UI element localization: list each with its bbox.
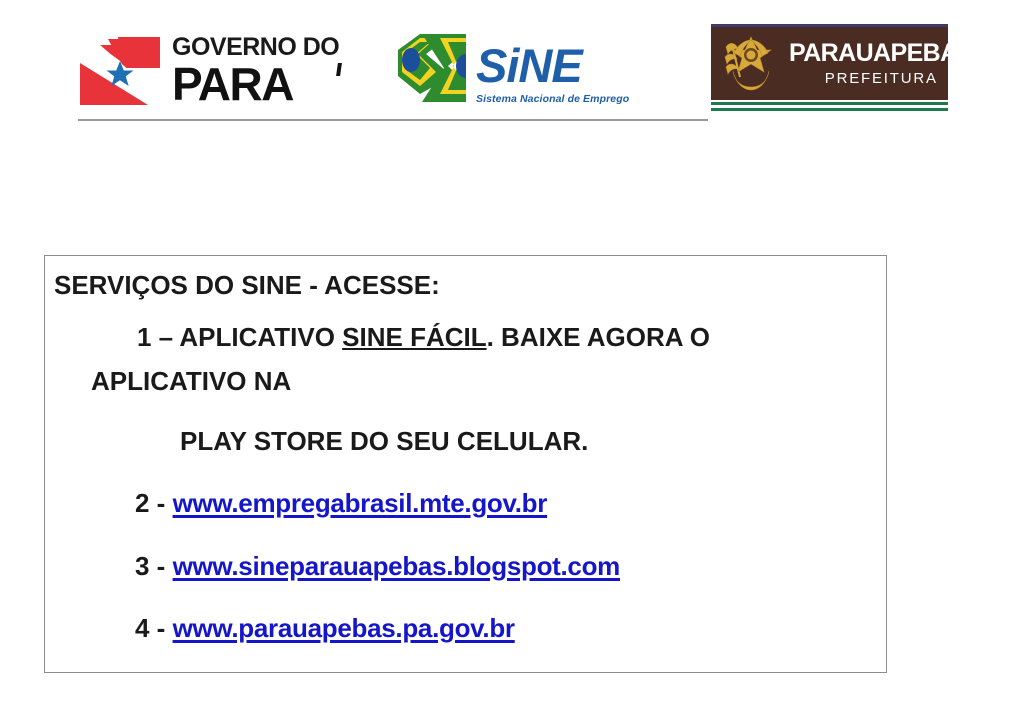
brazil-flag-chevron-icon <box>396 32 472 110</box>
parauapebas-subtitle: PREFEITURA <box>789 71 974 86</box>
parauapebas-green-rule-1 <box>711 102 948 105</box>
link-parauapebas-gov[interactable]: www.parauapebas.pa.gov.br <box>173 613 515 643</box>
parauapebas-wordmark: PARAUAPEBAS PREFEITURA <box>789 41 974 86</box>
parauapebas-name: PARAUAPEBAS <box>789 41 974 66</box>
para-line1: GOVERNO DO <box>172 35 339 60</box>
logo-parauapebas-prefeitura: PARAUAPEBAS PREFEITURA <box>711 24 948 118</box>
parauapebas-plate: PARAUAPEBAS PREFEITURA <box>711 27 948 100</box>
header-divider-line <box>78 119 708 121</box>
link-sineparauapebas-blog[interactable]: www.sineparauapebas.blogspot.com <box>173 551 620 581</box>
parauapebas-green-rule-2 <box>711 108 948 111</box>
list-item-3-number: 3 - <box>135 551 173 581</box>
list-item-4: 4 - www.parauapebas.pa.gov.br <box>135 613 515 644</box>
para-line2: PARA <box>172 61 339 107</box>
para-accent-mark <box>336 63 342 76</box>
logo-strip: GOVERNO DO PARA <box>78 28 948 114</box>
list-item-1-line-3: PLAY STORE DO SEU CELULAR. <box>180 426 588 457</box>
header-logo-band: GOVERNO DO PARA <box>0 0 1024 140</box>
logo-governo-do-para: GOVERNO DO PARA <box>78 28 346 114</box>
link-empregabrasil[interactable]: www.empregabrasil.mte.gov.br <box>173 488 547 518</box>
item-1-suffix: . BAIXE AGORA O <box>487 322 710 352</box>
services-content-box: SERVIÇOS DO SINE - ACESSE: 1 – APLICATIV… <box>44 255 887 673</box>
item-1-prefix: 1 – APLICATIVO <box>137 322 342 352</box>
list-item-1-line-1: 1 – APLICATIVO SINE FÁCIL. BAIXE AGORA O <box>137 322 710 353</box>
para-flag-icon <box>78 35 162 107</box>
sine-tagline: Sistema Nacional de Emprego <box>476 94 629 105</box>
list-item-2-number: 2 - <box>135 488 173 518</box>
list-item-2: 2 - www.empregabrasil.mte.gov.br <box>135 488 547 519</box>
parauapebas-coat-of-arms-icon <box>720 31 782 97</box>
list-item-1-line-2: APLICATIVO NA <box>91 366 291 397</box>
sine-name: SiNE <box>476 42 629 89</box>
list-item-3: 3 - www.sineparauapebas.blogspot.com <box>135 551 620 582</box>
para-wordmark: GOVERNO DO PARA <box>172 35 339 107</box>
item-1-emphasis: SINE FÁCIL <box>342 322 486 352</box>
logo-sine: SiNE Sistema Nacional de Emprego <box>396 28 646 114</box>
sine-wordmark: SiNE Sistema Nacional de Emprego <box>476 42 629 105</box>
list-item-4-number: 4 - <box>135 613 173 643</box>
page-title: SERVIÇOS DO SINE - ACESSE: <box>54 270 440 301</box>
